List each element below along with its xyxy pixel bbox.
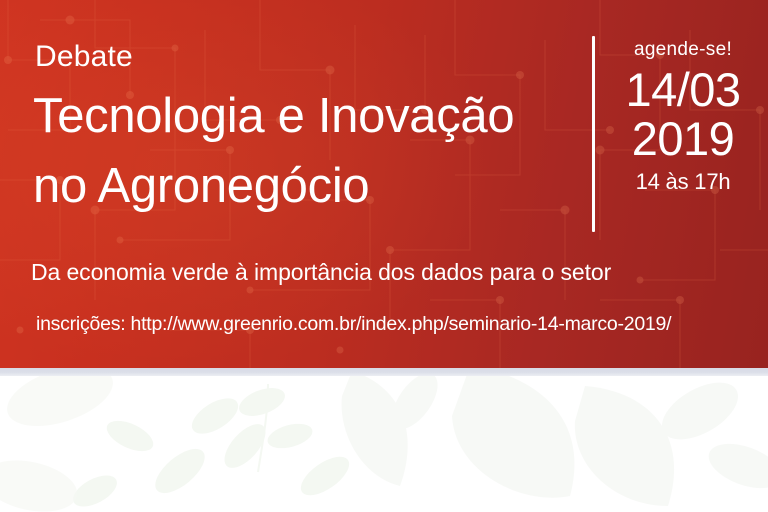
save-the-date-label: agende-se! (607, 40, 759, 59)
event-date: 14/03 2019 (607, 65, 759, 164)
vertical-divider (592, 36, 595, 232)
event-subtitle: Da economia verde à importância dos dado… (31, 259, 611, 286)
section-divider-strip (0, 368, 768, 376)
leaf-watermark-background (0, 376, 768, 512)
registration-link[interactable]: inscrições: http://www.greenrio.com.br/i… (36, 313, 671, 336)
event-day-month: 14/03 (625, 63, 740, 116)
event-banner: Debate Tecnologia e Inovação no Agronegó… (0, 0, 768, 512)
title-line-1: Tecnologia e Inovação (33, 89, 514, 143)
hero-section: Debate Tecnologia e Inovação no Agronegó… (0, 0, 768, 368)
event-year: 2019 (607, 114, 759, 163)
eyebrow-label: Debate (35, 42, 133, 72)
footer-section: Auditório da SNA Av. General Justo, 171/… (0, 376, 768, 512)
date-block: agende-se! 14/03 2019 14 às 17h (607, 40, 759, 193)
title-line-2: no Agronegócio (33, 152, 578, 222)
event-hours: 14 às 17h (607, 171, 759, 193)
page-title: Tecnologia e Inovação no Agronegócio (33, 82, 578, 221)
